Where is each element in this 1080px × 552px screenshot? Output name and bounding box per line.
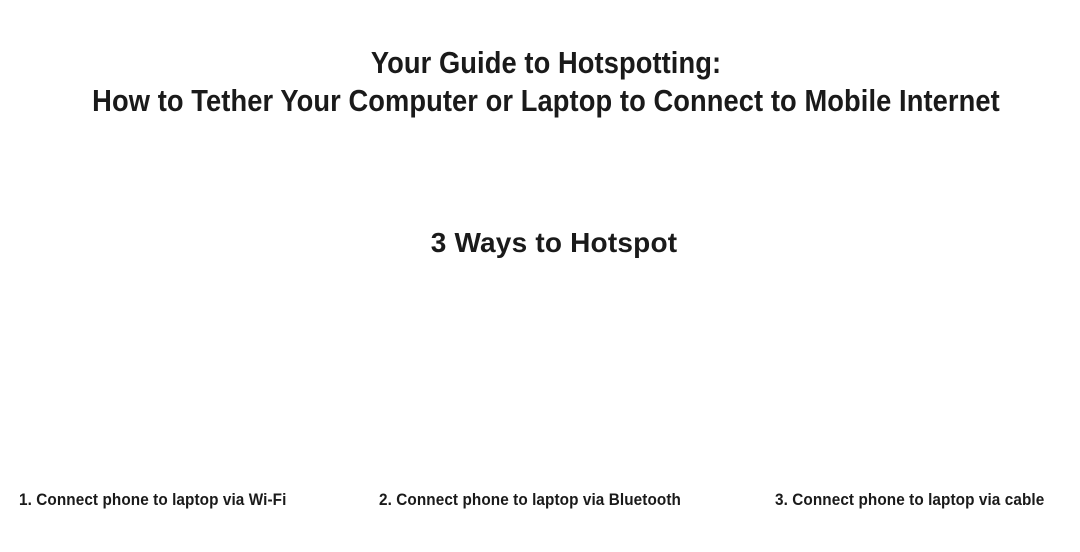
caption-row: 1. Connect phone to laptop via Wi-Fi 2. … xyxy=(0,489,1080,513)
method-caption-wifi: 1. Connect phone to laptop via Wi-Fi xyxy=(19,489,286,511)
page-title-line-2: How to Tether Your Computer or Laptop to… xyxy=(66,82,1027,120)
section-heading: 3 Ways to Hotspot xyxy=(0,224,1080,262)
page-title: Your Guide to Hotspotting: How to Tether… xyxy=(0,44,1080,120)
page-title-line-1: Your Guide to Hotspotting: xyxy=(66,44,1027,82)
wifi-tether-illustration xyxy=(0,272,360,480)
method-caption-cable: 3. Connect phone to laptop via cable xyxy=(775,489,1044,511)
bluetooth-tether-illustration xyxy=(360,272,720,480)
cable-tether-illustration xyxy=(720,272,1080,480)
method-caption-bluetooth: 2. Connect phone to laptop via Bluetooth xyxy=(379,489,681,511)
infographic-page: Your Guide to Hotspotting: How to Tether… xyxy=(0,0,1080,552)
illustration-band xyxy=(0,272,1080,480)
